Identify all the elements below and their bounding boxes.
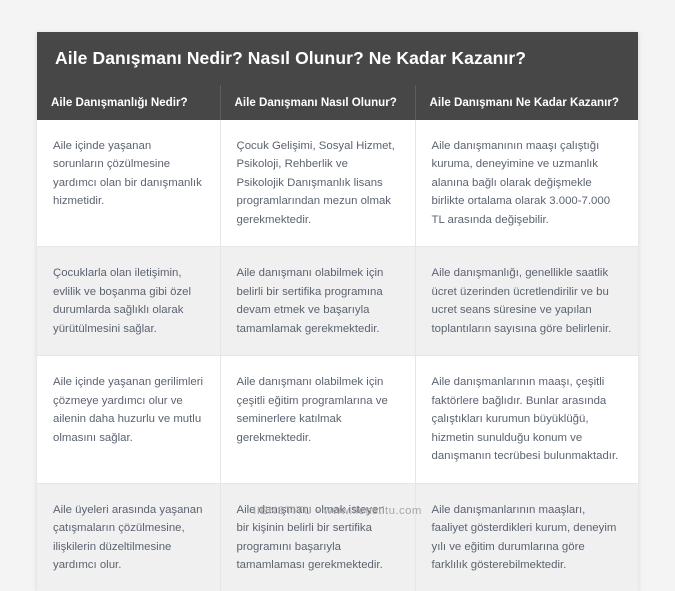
table-body: Aile içinde yaşanan sorunların çözülmesi…: [37, 120, 638, 591]
table-row: Aile içinde yaşanan gerilimleri çözmeye …: [37, 356, 638, 483]
page-title: Aile Danışmanı Nedir? Nasıl Olunur? Ne K…: [37, 32, 638, 85]
cell-how-much-earn-1: Aile danışmanının maaşı çalıştığı kuruma…: [415, 120, 638, 247]
table-header-row: Aile Danışmanlığı Nedir? Aile Danışmanı …: [37, 85, 638, 120]
cell-how-to-become-3: Aile danışmanı olabilmek için çeşitli eğ…: [220, 356, 415, 483]
cell-what-is-4: Aile üyeleri arasında yaşanan çatışmalar…: [37, 483, 220, 591]
cell-how-much-earn-3: Aile danışmanlarının maaşı, çeşitli fakt…: [415, 356, 638, 483]
table-head: Aile Danışmanlığı Nedir? Aile Danışmanı …: [37, 85, 638, 120]
cell-what-is-1: Aile içinde yaşanan sorunların çözülmesi…: [37, 120, 220, 247]
cell-what-is-3: Aile içinde yaşanan gerilimleri çözmeye …: [37, 356, 220, 483]
cell-how-to-become-1: Çocuk Gelişimi, Sosyal Hizmet, Psikoloji…: [220, 120, 415, 247]
cell-how-to-become-2: Aile danışmanı olabilmek için belirli bi…: [220, 247, 415, 356]
cell-how-much-earn-4: Aile danışmanlarının maaşları, faaliyet …: [415, 483, 638, 591]
table-row: Aile içinde yaşanan sorunların çözülmesi…: [37, 120, 638, 247]
column-header-how-to-become: Aile Danışmanı Nasıl Olunur?: [220, 85, 415, 120]
column-header-what-is: Aile Danışmanlığı Nedir?: [37, 85, 220, 120]
table-row: Çocuklarla olan iletişimin, evlilik ve b…: [37, 247, 638, 356]
table-row: Aile üyeleri arasında yaşanan çatışmalar…: [37, 483, 638, 591]
footer-credit: IIENSTITU - www.iienstitu.com: [0, 505, 675, 517]
cell-how-much-earn-2: Aile danışmanlığı, genellikle saatlik üc…: [415, 247, 638, 356]
cell-what-is-2: Çocuklarla olan iletişimin, evlilik ve b…: [37, 247, 220, 356]
cell-how-to-become-4: Aile danışmanı olmak isteyen bir kişinin…: [220, 483, 415, 591]
infographic-page: Aile Danışmanı Nedir? Nasıl Olunur? Ne K…: [0, 0, 675, 560]
column-header-how-much-earn: Aile Danışmanı Ne Kadar Kazanır?: [415, 85, 638, 120]
